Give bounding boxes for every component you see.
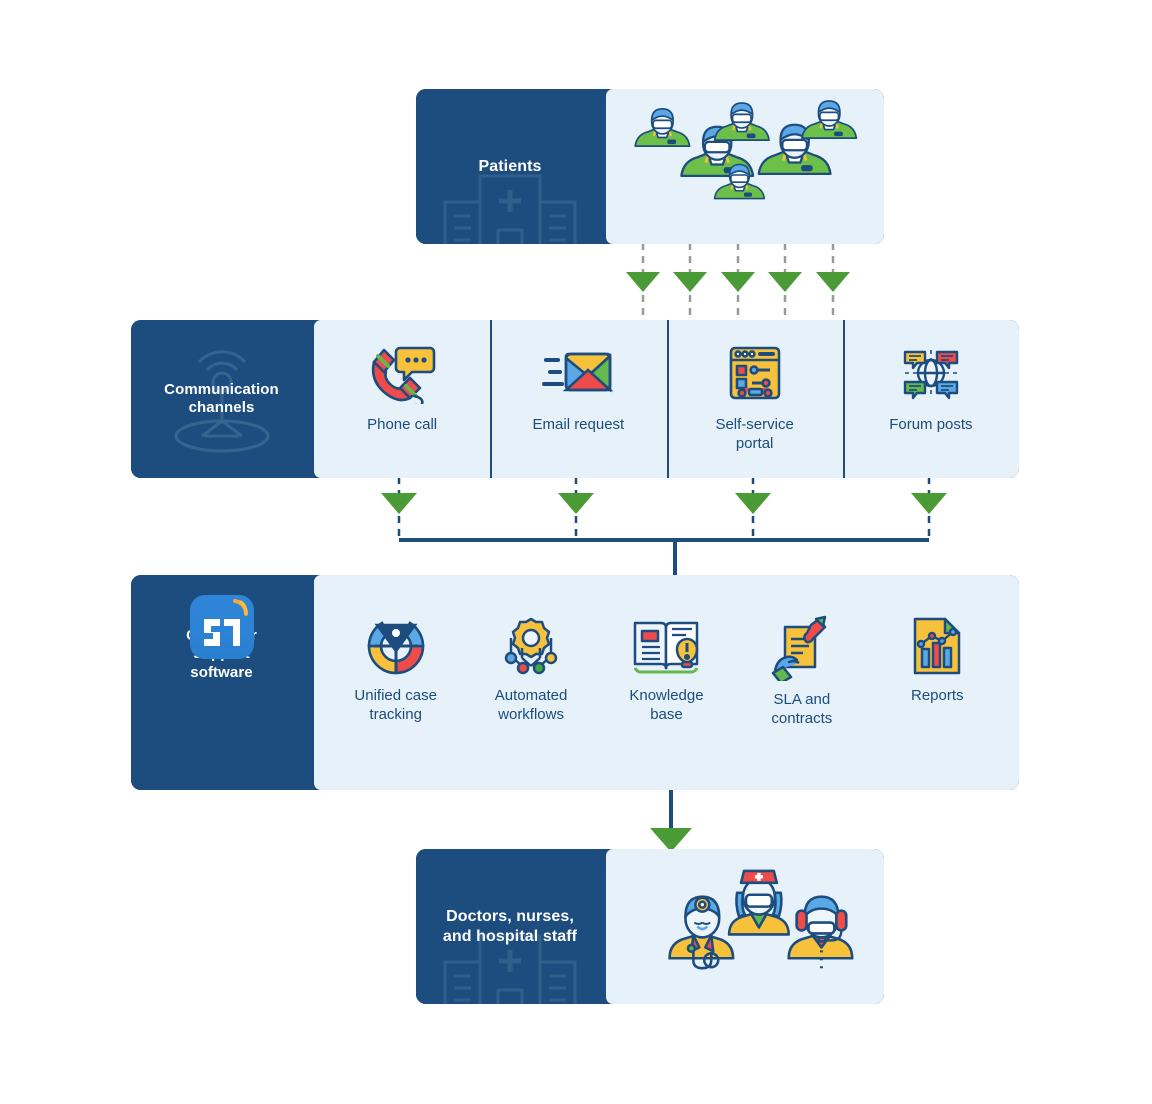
knowledge-base-icon	[631, 615, 701, 677]
channel-email-request-label: Email request	[533, 416, 625, 435]
channel-phone-call[interactable]: Phone call	[314, 320, 490, 478]
row-staff-label-line2: and hospital staff	[443, 927, 577, 947]
hospital-building-icon	[435, 168, 585, 244]
row-communication-channels: Communication channels	[131, 320, 1019, 478]
feature-automated-workflows-label: Automated workflows	[495, 687, 568, 725]
connector-channels-to-software	[381, 477, 947, 578]
diagram-canvas: Patients	[0, 0, 1152, 1104]
row-software-label-line3: software	[190, 664, 253, 682]
app-logo-icon	[188, 593, 256, 666]
row-communication-body: Phone call Email requ	[312, 320, 1019, 478]
feature-knowledge-base[interactable]: Knowledge base	[599, 615, 734, 725]
row-customer-support-software: Customer support software	[131, 575, 1019, 790]
row-communication-label-panel: Communication channels	[131, 320, 312, 478]
feature-reports[interactable]: Reports	[870, 615, 1005, 706]
feature-sla-contracts-label: SLA and contracts	[771, 691, 832, 729]
unified-case-tracking-icon	[365, 615, 427, 677]
row-patients: Patients	[416, 89, 884, 244]
row-staff-label-panel: Doctors, nurses, and hospital staff	[416, 849, 604, 1004]
channel-forum-posts[interactable]: Forum posts	[843, 320, 1019, 478]
automated-workflows-icon	[500, 615, 562, 677]
row-software-body: Unified case tracking	[312, 575, 1019, 790]
channel-phone-call-label: Phone call	[367, 416, 437, 435]
connector-software-to-staff	[650, 789, 692, 852]
forum-globe-icon	[895, 342, 967, 404]
connector-patients-to-channels	[626, 243, 850, 322]
row-software-label-panel: Customer support software	[131, 575, 312, 790]
row-staff-label-line1: Doctors, nurses,	[446, 907, 574, 927]
phone-call-icon	[366, 342, 438, 404]
channel-self-service-portal[interactable]: Self-service portal	[667, 320, 843, 478]
channel-self-service-portal-label: Self-service portal	[715, 416, 793, 454]
row-patients-label-panel: Patients	[416, 89, 604, 244]
feature-unified-case-tracking[interactable]: Unified case tracking	[328, 615, 463, 725]
reports-chart-icon	[909, 615, 965, 677]
sla-contracts-icon	[771, 615, 833, 681]
channel-email-request[interactable]: Email request	[490, 320, 666, 478]
feature-automated-workflows[interactable]: Automated workflows	[464, 615, 599, 725]
feature-knowledge-base-label: Knowledge base	[629, 687, 703, 725]
row-staff-body	[604, 849, 884, 1004]
row-hospital-staff: Doctors, nurses, and hospital staff	[416, 849, 884, 1004]
row-patients-label: Patients	[478, 157, 541, 177]
feature-sla-contracts[interactable]: SLA and contracts	[734, 615, 869, 729]
medical-staff-icon	[606, 849, 884, 1004]
patients-group-icon	[606, 89, 884, 244]
row-patients-body	[604, 89, 884, 244]
feature-reports-label: Reports	[911, 687, 964, 706]
broadcast-antenna-icon	[157, 348, 287, 458]
email-envelope-icon	[542, 342, 614, 404]
feature-unified-case-tracking-label: Unified case tracking	[354, 687, 437, 725]
software-feature-grid: Unified case tracking	[314, 575, 1019, 790]
self-service-portal-icon	[721, 342, 789, 404]
channel-forum-posts-label: Forum posts	[889, 416, 972, 435]
